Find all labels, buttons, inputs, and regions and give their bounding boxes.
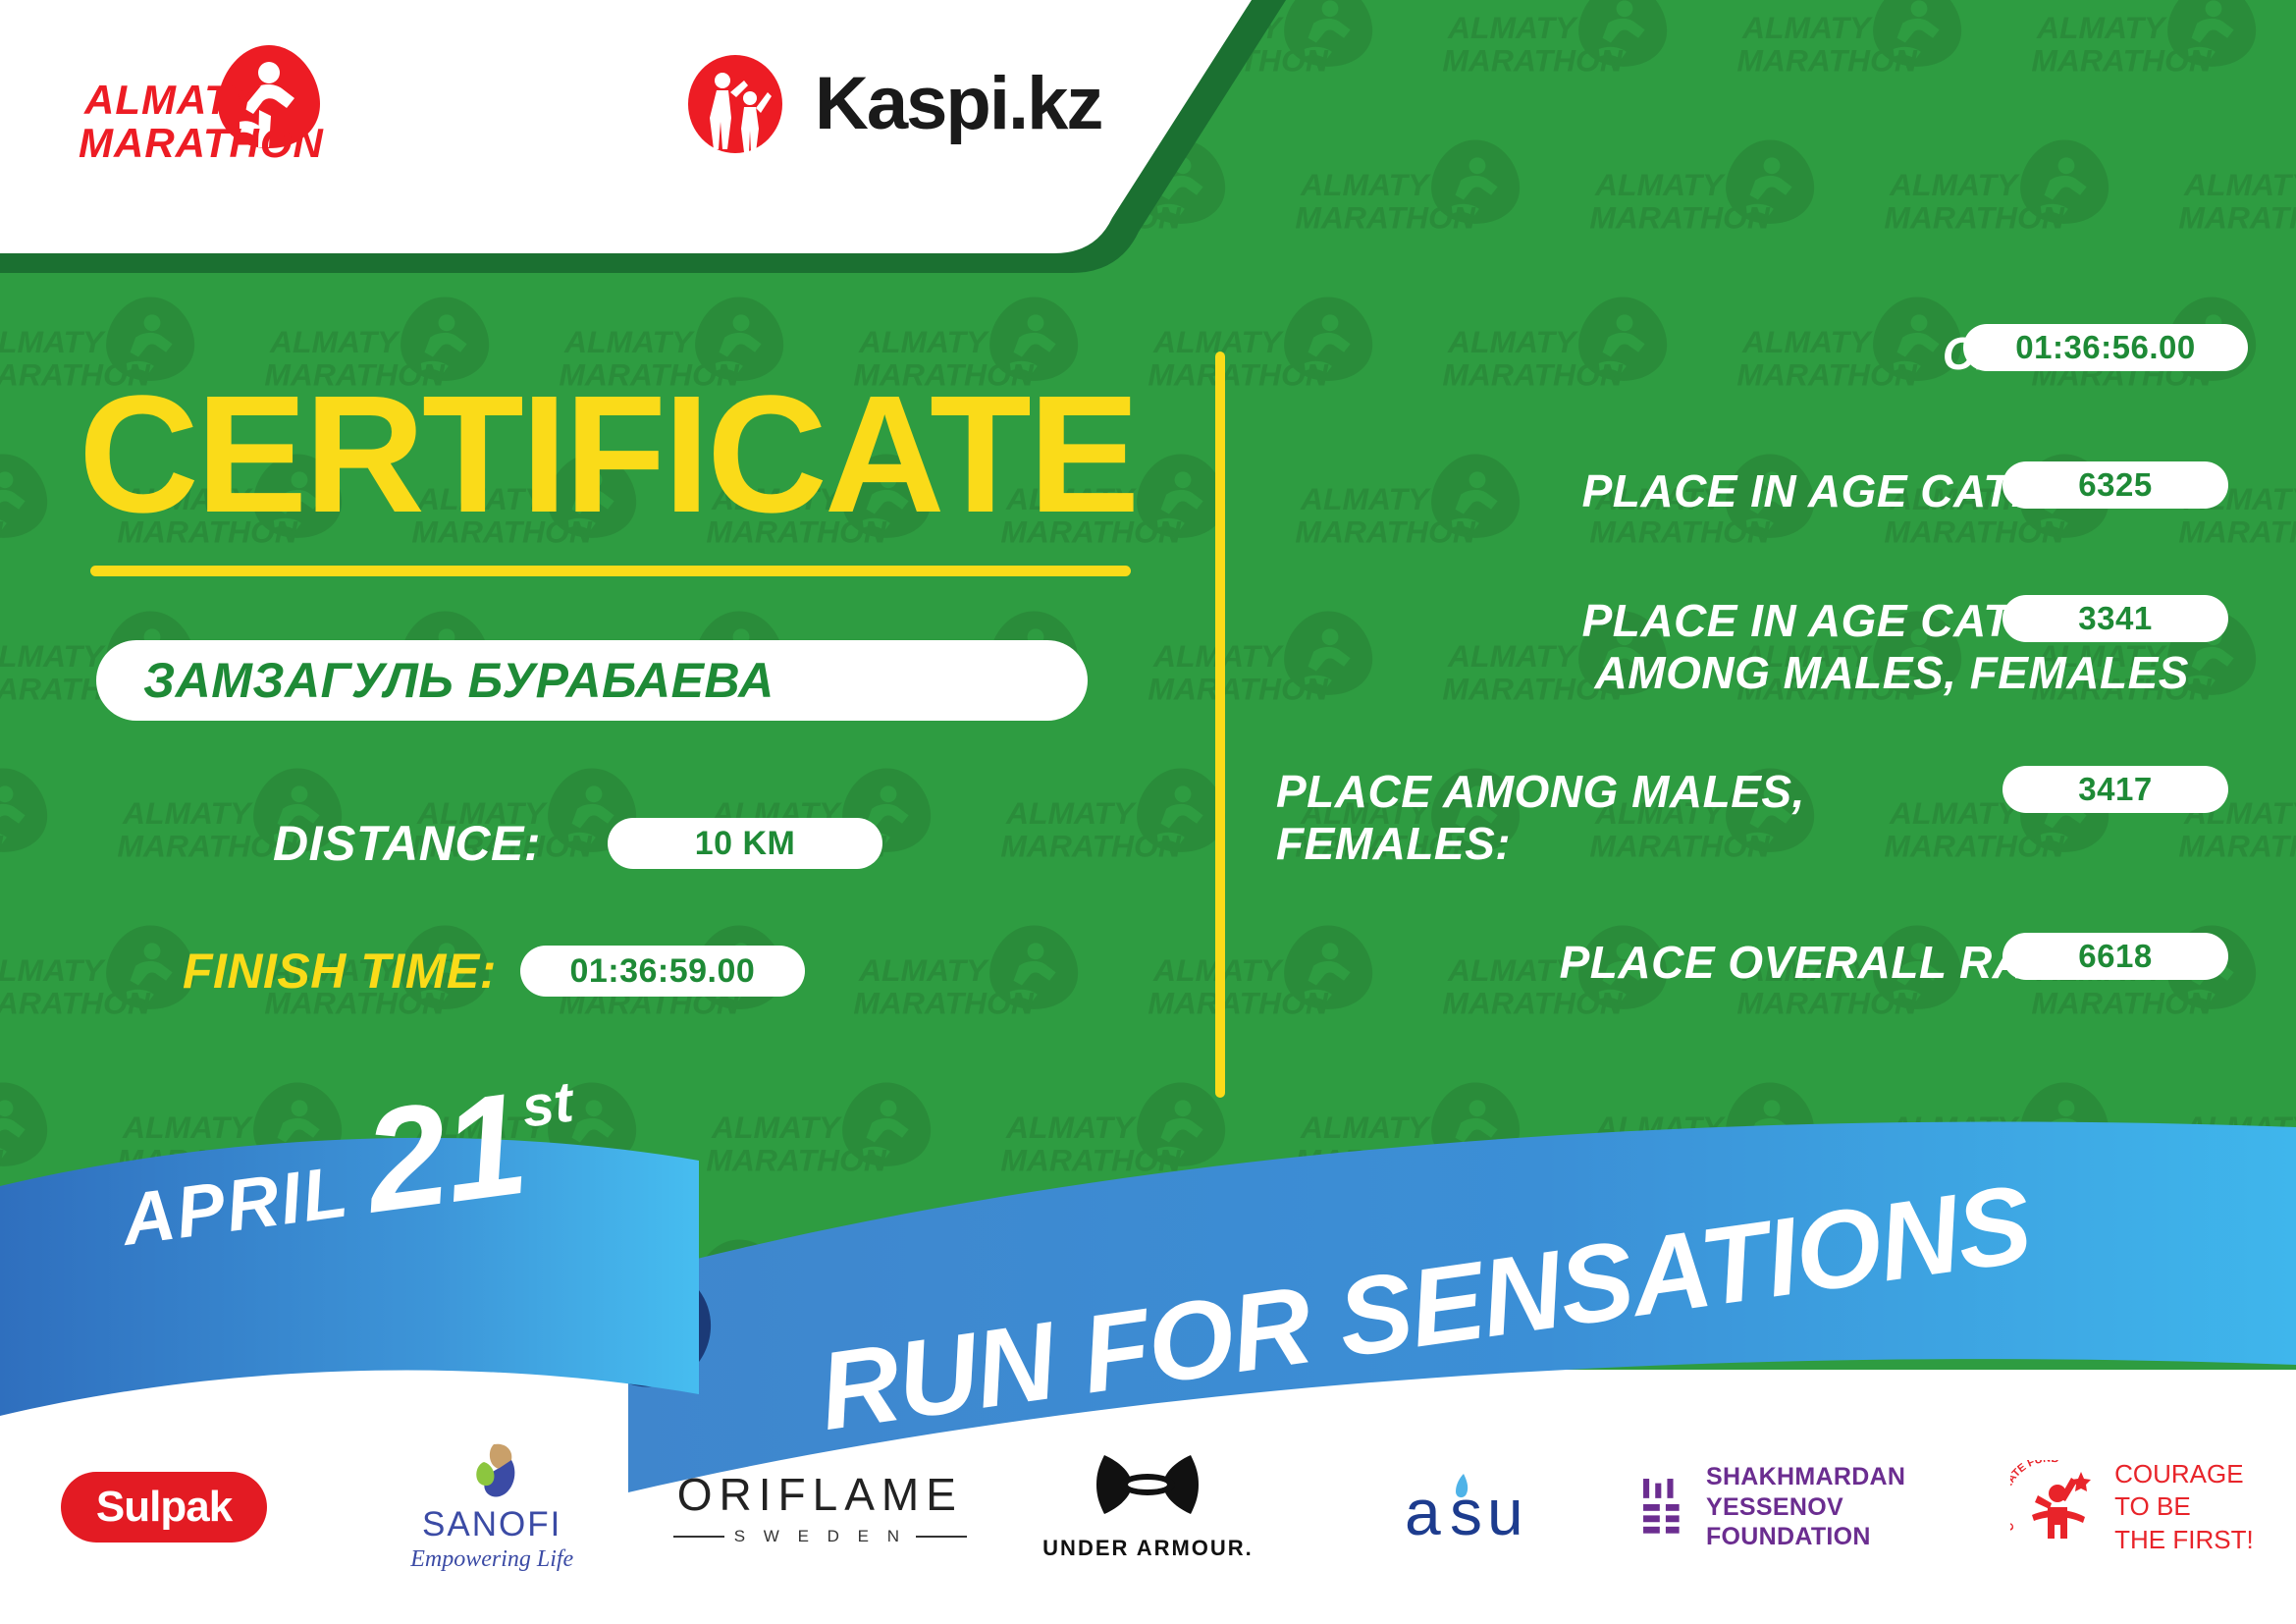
svg-text:ALMATY: ALMATY	[83, 77, 262, 123]
kaspi-logo: Kaspi.kz	[677, 51, 1090, 157]
stat-value: 6618	[2078, 938, 2152, 975]
sanofi-bird-icon	[454, 1442, 529, 1503]
stat-value: 3341	[2078, 600, 2152, 637]
finish-time-value: 01:36:59.00	[569, 952, 755, 991]
sulpak-logo: Sulpak	[61, 1472, 267, 1543]
under-armour-wordmark: UNDER ARMOUR.	[1042, 1536, 1254, 1561]
vertical-divider	[1215, 352, 1225, 1098]
asu-droplet-icon: a s u	[1403, 1468, 1550, 1546]
title-underline	[90, 566, 1131, 576]
sponsor-asu: a s u	[1312, 1438, 1640, 1576]
distance-value: 10 KM	[695, 825, 796, 863]
header-logos: ALMATY MARATHON Kaspi.kz	[0, 0, 1178, 196]
right-column: CHIP TIME: 01:36:56.00 PLACE IN AGE CATE…	[1276, 324, 2268, 1110]
sulpak-wordmark: Sulpak	[96, 1483, 232, 1532]
finish-time-pill: 01:36:59.00	[520, 946, 805, 997]
svg-text:u: u	[1487, 1476, 1523, 1546]
sponsor-courage: CORPORATE FUND COURAGE TO BE THE FIRST!	[1968, 1438, 2296, 1576]
sponsor-yessenov: SHAKHMARDAN YESSENOV FOUNDATION	[1640, 1438, 1968, 1576]
participant-name: ЗАМЗАГУЛЬ БУРАБАЕВА	[96, 652, 774, 709]
sponsor-sulpak: Sulpak	[0, 1438, 328, 1576]
sponsor-under-armour: UNDER ARMOUR.	[984, 1438, 1311, 1576]
event-day-ordinal: st	[518, 1069, 577, 1141]
svg-text:s: s	[1450, 1476, 1482, 1546]
certificate-page: ALMATYMARATHONALMATYMARATHONALMATYMARATH…	[0, 0, 2296, 1624]
distance-row: DISTANCE: 10 KM	[273, 815, 882, 872]
left-column: CERTIFICATE ЗАМЗАГУЛЬ БУРАБАЕВА DISTANCE…	[0, 324, 1168, 1110]
stat-pill: 3341	[2002, 595, 2228, 642]
courage-line1: COURAGE	[2114, 1459, 2243, 1489]
sponsor-oriflame: ORIFLAME S W E D E N	[656, 1438, 984, 1576]
finish-time-label: FINISH TIME:	[183, 943, 497, 1000]
stat-value: 3417	[2078, 771, 2152, 808]
event-day: 21	[357, 1071, 533, 1236]
sponsor-sanofi: SANOFI Empowering Life	[328, 1438, 656, 1576]
oriflame-tagline: S W E D E N	[734, 1527, 906, 1546]
oriflame-rule-right	[916, 1536, 967, 1538]
sanofi-tagline: Empowering Life	[410, 1546, 573, 1573]
oriflame-wordmark: ORIFLAME	[677, 1468, 963, 1521]
stat-value: 01:36:56.00	[2015, 329, 2195, 366]
distance-label: DISTANCE:	[273, 815, 541, 872]
stat-pill: 01:36:56.00	[1963, 324, 2248, 371]
stat-value: 6325	[2078, 466, 2152, 504]
sanofi-wordmark: SANOFI	[422, 1505, 561, 1544]
courage-line2: TO BE	[2114, 1491, 2191, 1521]
stat-pill: 3417	[2002, 766, 2228, 813]
courage-runner-icon: CORPORATE FUND	[2010, 1460, 2105, 1554]
finish-time-row: FINISH TIME: 01:36:59.00	[183, 943, 805, 1000]
svg-text:a: a	[1405, 1476, 1441, 1546]
event-month: APRIL	[117, 1149, 353, 1262]
under-armour-icon	[1096, 1453, 1199, 1528]
svg-text:MARATHON: MARATHON	[79, 120, 325, 165]
participant-name-pill: ЗАМЗАГУЛЬ БУРАБАЕВА	[96, 640, 1088, 721]
courage-line3: THE FIRST!	[2114, 1525, 2254, 1554]
almaty-marathon-logo: ALMATY MARATHON	[77, 37, 400, 165]
stat-pill: 6618	[2002, 933, 2228, 980]
distance-pill: 10 KM	[608, 818, 882, 869]
oriflame-rule-left	[673, 1536, 724, 1538]
sponsor-bar: Sulpak SANOFI Empowering Life ORIFLAME	[0, 1414, 2296, 1600]
yessenov-line1: SHAKHMARDAN YESSENOV	[1706, 1463, 1905, 1521]
yessenov-line2: FOUNDATION	[1706, 1523, 1871, 1550]
stat-pill: 6325	[2002, 461, 2228, 509]
kaspi-people-icon	[677, 55, 793, 153]
kaspi-wordmark: Kaspi.kz	[815, 67, 1101, 141]
page-title: CERTIFICATE	[79, 371, 1137, 538]
yessenov-bars-icon	[1640, 1470, 1686, 1544]
